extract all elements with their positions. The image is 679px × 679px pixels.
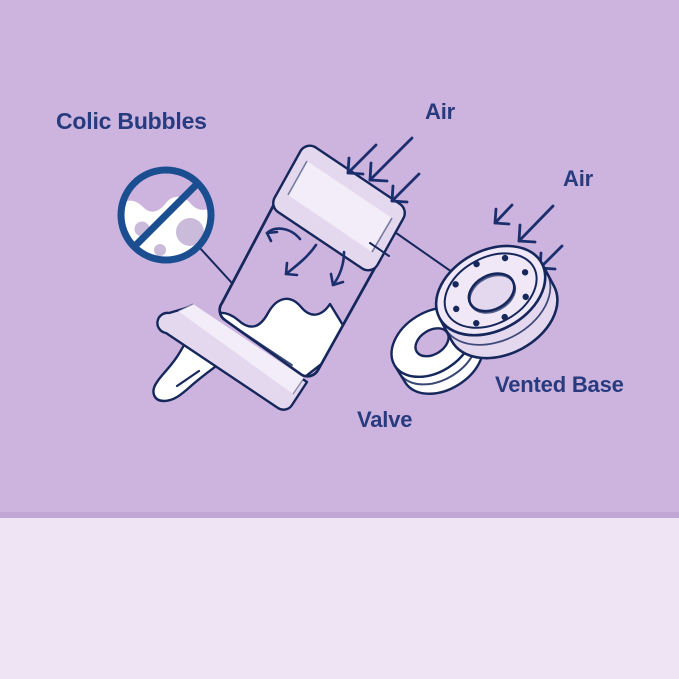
label-air-top: Air <box>425 99 455 125</box>
anti-colic-bottle-diagram <box>0 0 679 516</box>
label-colic-bubbles: Colic Bubbles <box>56 108 207 135</box>
label-valve: Valve <box>357 407 412 433</box>
caption-panel: Reduces Colic and Gas Patented Anti-Coli… <box>0 518 679 679</box>
label-vented-base: Vented Base <box>495 372 624 398</box>
air-arrow-4 <box>495 205 512 224</box>
infographic-card: Colic Bubbles Air Air Valve Vented Base … <box>0 0 679 679</box>
air-arrow-3 <box>392 174 419 202</box>
label-air-right: Air <box>563 166 593 192</box>
no-colic-bubbles-badge <box>115 165 217 260</box>
bottle-to-base-leader-line <box>389 228 452 272</box>
bubble-small <box>154 244 166 256</box>
air-arrow-5 <box>519 206 553 242</box>
illustration-panel: Colic Bubbles Air Air Valve Vented Base <box>0 0 679 516</box>
